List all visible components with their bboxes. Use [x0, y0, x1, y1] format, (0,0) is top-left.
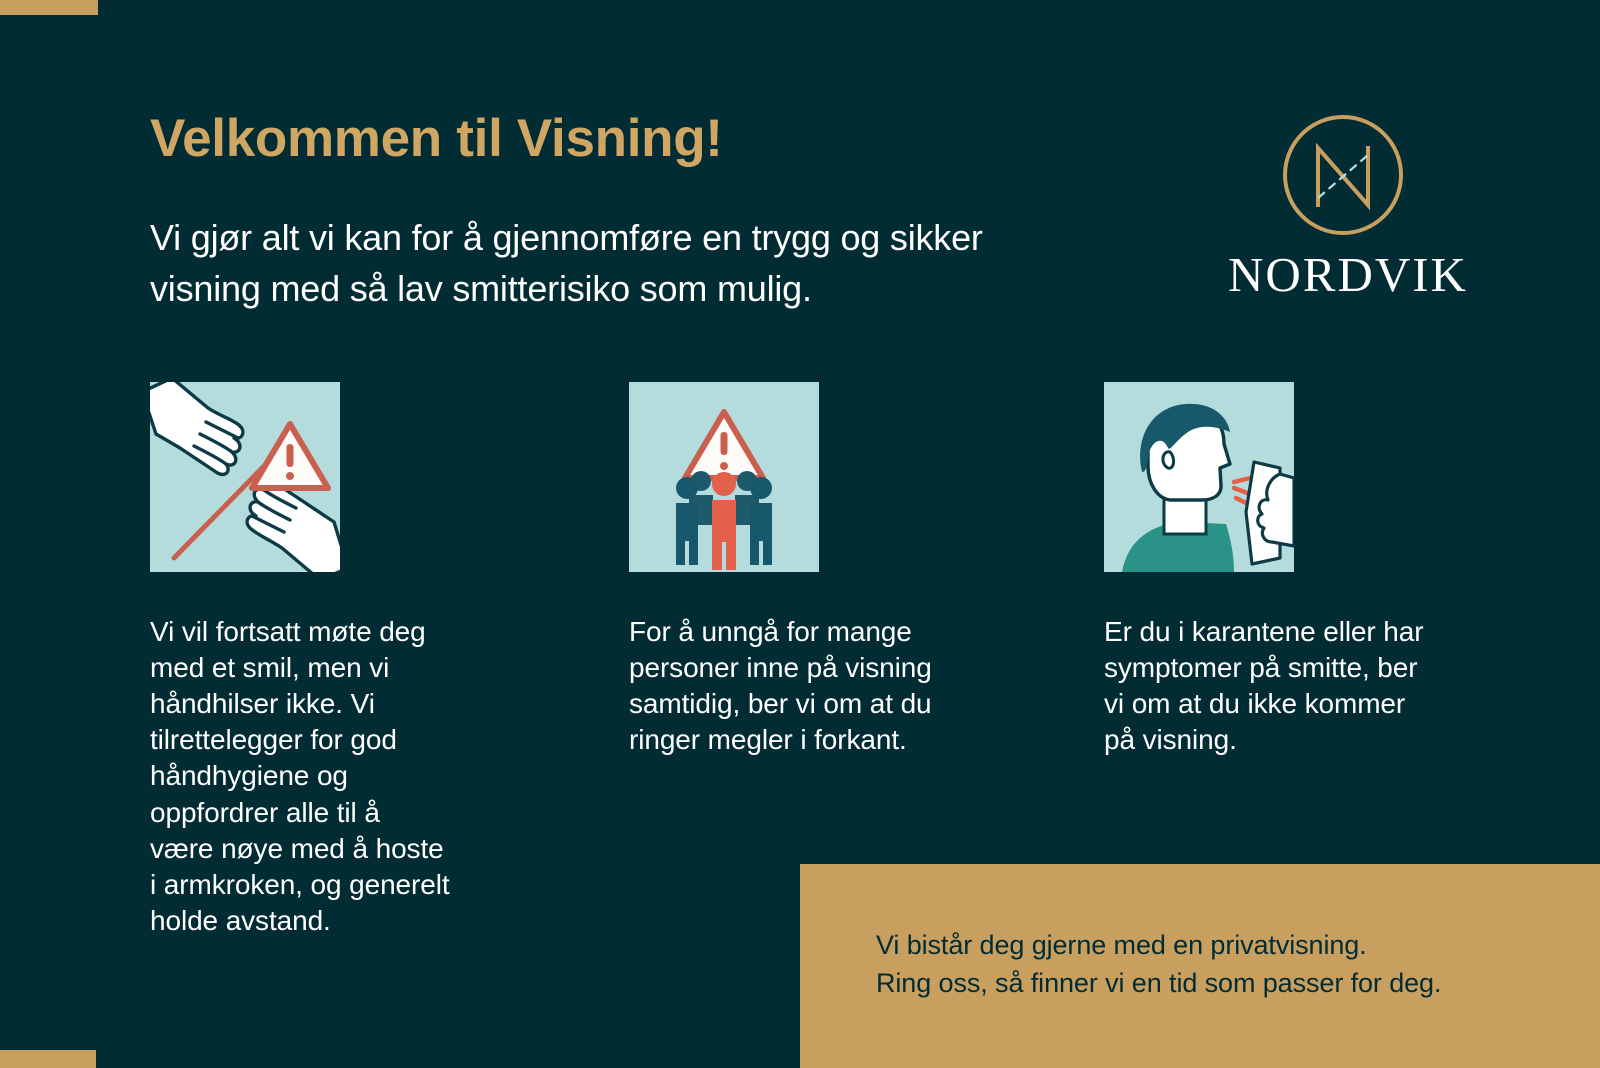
- gold-accent-bottom-left: [0, 1050, 96, 1068]
- info-column-2-text: For å unngå for mange personer inne på v…: [629, 614, 974, 758]
- info-column-1: Vi vil fortsatt møte deg med et smil, me…: [150, 382, 490, 939]
- gold-accent-top-left: [0, 0, 98, 15]
- info-column-1-text: Vi vil fortsatt møte deg med et smil, me…: [150, 614, 490, 939]
- info-column-2: For å unngå for mange personer inne på v…: [629, 382, 974, 758]
- footer-text: Vi bistår deg gjerne med en privatvisnin…: [876, 926, 1441, 1003]
- page-subtitle: Vi gjør alt vi kan for å gjennomføre en …: [150, 212, 1050, 314]
- footer-banner: Vi bistår deg gjerne med en privatvisnin…: [800, 864, 1600, 1068]
- info-column-3: Er du i karantene eller har symptomer på…: [1104, 382, 1464, 758]
- crowd-warning-icon: [629, 382, 819, 572]
- brand-logo: NORDVIK: [1228, 110, 1458, 299]
- cough-into-tissue-icon: [1104, 382, 1294, 572]
- poster-root: Velkommen til Visning! Vi gjør alt vi ka…: [0, 0, 1600, 1068]
- page-title: Velkommen til Visning!: [150, 110, 1150, 168]
- no-handshake-icon: [150, 382, 340, 572]
- brand-wordmark: NORDVIK: [1228, 250, 1458, 299]
- nordvik-n-monogram-icon: [1278, 110, 1408, 240]
- info-column-3-text: Er du i karantene eller har symptomer på…: [1104, 614, 1464, 758]
